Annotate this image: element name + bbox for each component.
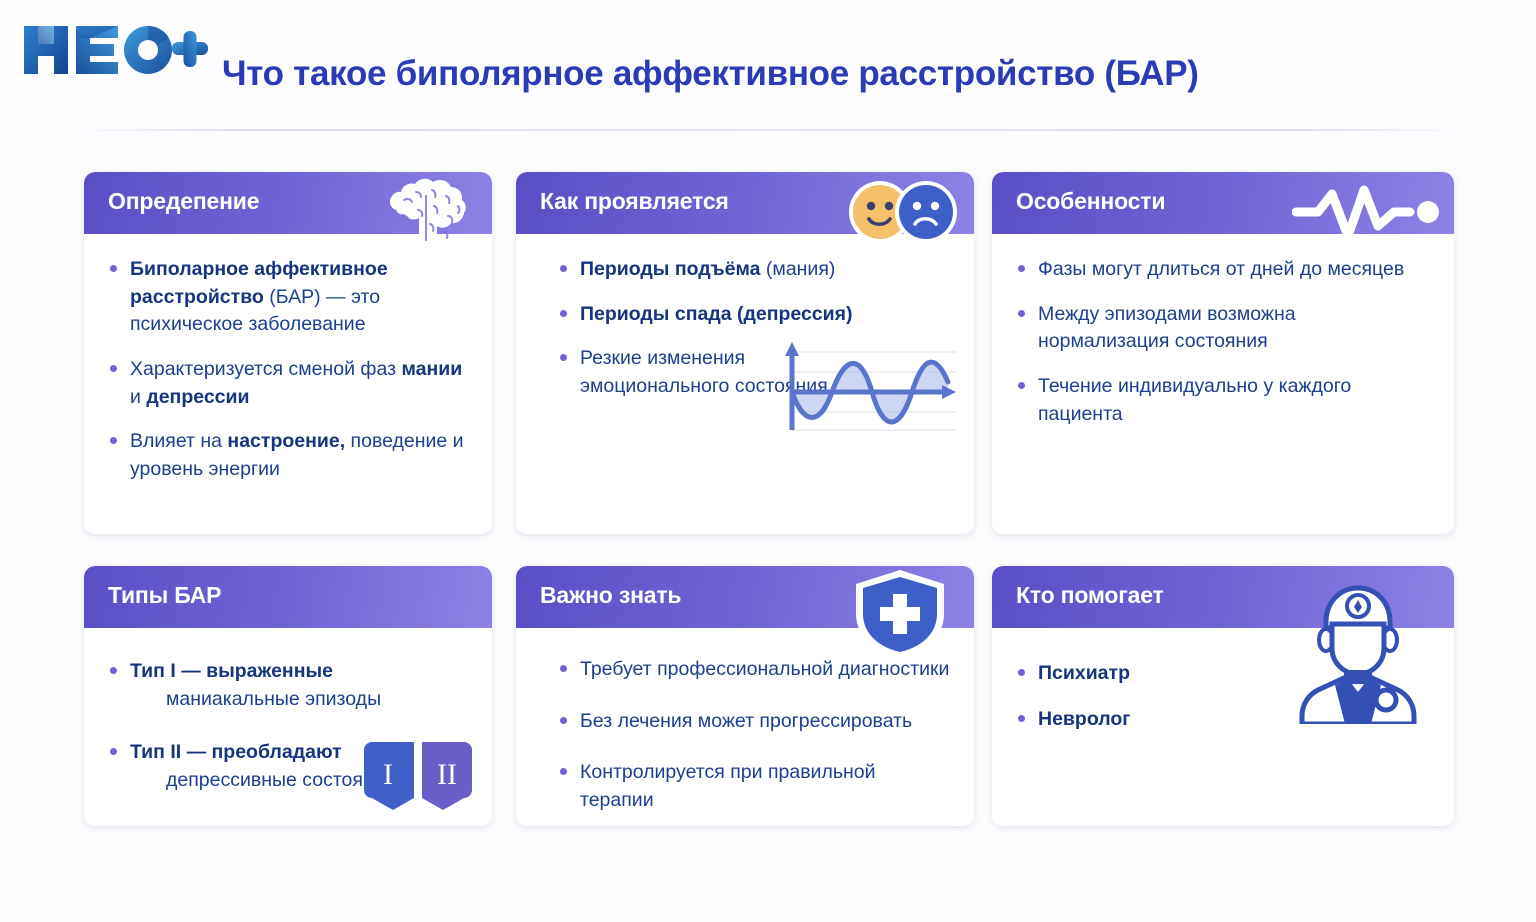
bullet-text: Контролируется при правильной терапии — [580, 761, 876, 811]
list-item: Характеризуется сменой фаз мании и депре… — [106, 356, 470, 411]
type-badges-icon: I II — [362, 740, 474, 812]
card-important: Важно знать Требует профессиональной диа… — [516, 566, 974, 826]
card-types-header: Типы БАР — [84, 566, 492, 628]
bullet-bold-text: Тип I — выраженные — [130, 660, 333, 682]
bullet-subtext: маниакальные эпизоды — [130, 686, 470, 714]
bullet-bold-text: Невролог — [1038, 708, 1130, 730]
bullet-text: Фазы могут длиться от дней до месяцев — [1038, 258, 1404, 280]
bullet-text: и — [130, 386, 146, 408]
card-who-helps-title: Кто помогает — [1016, 582, 1164, 609]
card-definition-header: Опредепение — [84, 172, 492, 234]
card-important-title: Важно знать — [540, 582, 681, 609]
card-who-helps-header: Кто помогает — [992, 566, 1454, 628]
list-item: Тип I — выраженные маниакальные эпизоды — [106, 658, 470, 713]
bullet-text: Между эпизодами возможна нормализация со… — [1038, 303, 1296, 353]
card-manifestation-header: Как проявляется — [516, 172, 974, 234]
list-item: Периоды подъёма (мания) — [556, 256, 952, 284]
who-helps-list: Психиатр Невролог — [1014, 660, 1432, 733]
list-item: Фазы могут длиться от дней до месяцев — [1014, 256, 1432, 284]
list-item: Биполарное аффективное расстройство (БАР… — [106, 256, 470, 339]
bullet-bold-text: депрессии — [146, 386, 249, 408]
bullet-text: Течение индивидуально у каждого пациента — [1038, 375, 1351, 425]
definition-list: Биполарное аффективное расстройство (БАР… — [106, 256, 470, 484]
card-features: Особенности Фазы могут длиться от дней д… — [992, 172, 1454, 534]
bullet-text: Характеризуется сменой фаз — [130, 358, 401, 380]
emotion-wave-chart — [770, 338, 960, 438]
features-list: Фазы могут длиться от дней до месяцев Ме… — [1014, 256, 1432, 428]
card-who-helps-body: Психиатр Невролог — [992, 628, 1454, 826]
list-item: Невролог — [1014, 706, 1432, 734]
list-item: Влияет на настроение, поведение и уровен… — [106, 428, 470, 483]
list-item: Без лечения может прогрессировать — [556, 708, 952, 736]
card-types-title: Типы БАР — [108, 582, 221, 609]
card-definition-title: Опредепение — [108, 188, 259, 215]
list-item: Между эпизодами возможна нормализация со… — [1014, 301, 1338, 356]
type-badge-1-label: I — [383, 758, 393, 791]
card-manifestation-title: Как проявляется — [540, 188, 729, 215]
bullet-bold-text: Периоды подъёма — [580, 258, 761, 280]
list-item: Контролируется при правильной терапии — [556, 759, 952, 814]
card-important-header: Важно знать — [516, 566, 974, 628]
list-item: Периоды спада (депрессия) — [556, 301, 952, 329]
type-badge-2-label: II — [437, 758, 457, 791]
card-features-header: Особенности — [992, 172, 1454, 234]
bullet-bold-text: настроение, — [227, 430, 345, 452]
bullet-bold-text: Психиатр — [1038, 662, 1130, 684]
list-item: Требует профессиональной диагностики — [556, 656, 952, 684]
cards-grid: Опредепение Биполарное аффективное расст… — [0, 0, 1536, 922]
bullet-text: Влияет на — [130, 430, 227, 452]
bullet-text: (мания) — [761, 258, 836, 280]
bullet-bold-text: Периоды спада (депрессия) — [580, 303, 853, 325]
card-definition-body: Биполарное аффективное расстройство (БАР… — [84, 234, 492, 534]
important-list: Требует профессиональной диагностики Без… — [538, 656, 952, 815]
card-features-title: Особенности — [1016, 188, 1165, 215]
card-manifestation: Как проявляется Периоды подъёма (мания) … — [516, 172, 974, 534]
bullet-bold-text: мании — [401, 358, 462, 380]
card-types: Типы БАР Тип I — выраженные маниакальные… — [84, 566, 492, 826]
bullet-text: Без лечения может прогрессировать — [580, 710, 912, 732]
bullet-text: Требует профессиональной диагностики — [580, 658, 949, 680]
bullet-bold-text: Тип II — преобладают — [130, 741, 342, 763]
list-item: Течение индивидуально у каждого пациента — [1014, 373, 1432, 428]
card-who-helps: Кто помогает Психиатр Невролог — [992, 566, 1454, 826]
card-important-body: Требует профессиональной диагностики Без… — [516, 628, 974, 826]
card-features-body: Фазы могут длиться от дней до месяцев Ме… — [992, 234, 1454, 534]
list-item: Психиатр — [1014, 660, 1432, 688]
card-definition: Опредепение Биполарное аффективное расст… — [84, 172, 492, 534]
